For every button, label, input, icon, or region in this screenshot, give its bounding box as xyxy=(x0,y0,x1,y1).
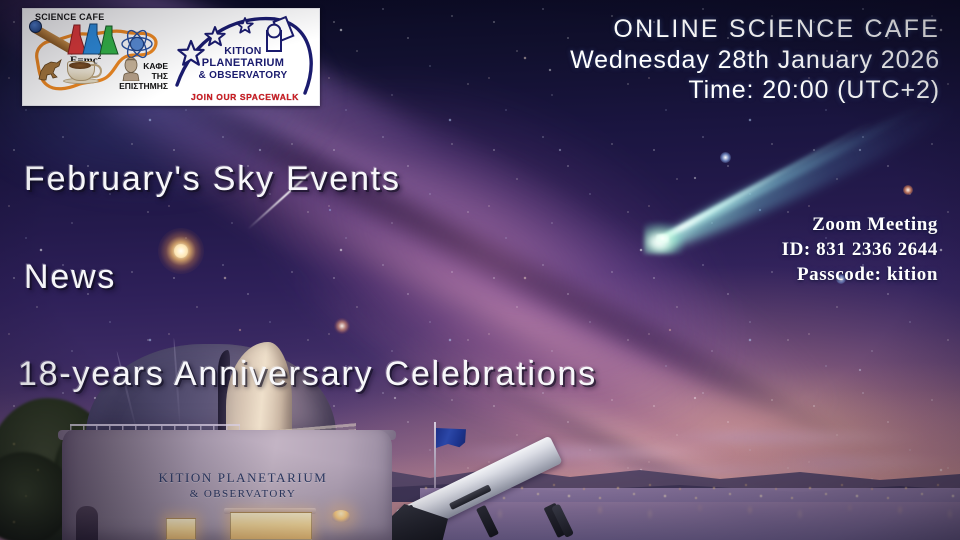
logo-bar[interactable]: SCIENCE CAFE E=mc2 xyxy=(22,8,320,106)
observatory-building: KITION PLANETARIUM & OBSERVATORY xyxy=(48,380,418,540)
kition-line-2: PLANETARIUM xyxy=(171,57,315,70)
telescope xyxy=(398,464,628,540)
greek-line-2: ΤΗΣ xyxy=(119,71,168,81)
building-doorway xyxy=(76,506,98,540)
greek-line-1: ΚΑΦΕ xyxy=(119,61,168,71)
lab-flasks-icon xyxy=(67,23,121,57)
science-cafe-title: SCIENCE CAFE xyxy=(35,12,104,22)
lit-window-main xyxy=(230,512,312,540)
telescope-tube-band xyxy=(476,505,499,538)
kition-line-3: & OBSERVATORY xyxy=(171,70,315,82)
coffee-liquid-icon xyxy=(69,62,91,69)
kition-line-1: KITION xyxy=(171,45,315,57)
kition-planetarium-logo[interactable]: KITION PLANETARIUM & OBSERVATORY JOIN OU… xyxy=(171,9,319,105)
poster-canvas: KITION PLANETARIUM & OBSERVATORY SCIENCE… xyxy=(0,0,960,540)
exterior-wall-lamp xyxy=(332,510,350,522)
atom-icon xyxy=(120,27,154,61)
science-cafe-logo[interactable]: SCIENCE CAFE E=mc2 xyxy=(23,9,171,105)
dinosaur-skeleton-icon xyxy=(35,57,65,83)
science-cafe-greek-text: ΚΑΦΕ ΤΗΣ ΕΠΙΣΤΗΜΗΣ xyxy=(119,61,168,91)
lit-window-left xyxy=(166,518,196,540)
logo-telescope-eyepiece-icon xyxy=(29,20,42,33)
kition-tagline: JOIN OUR SPACEWALK xyxy=(171,92,319,102)
kition-logo-text: KITION PLANETARIUM & OBSERVATORY xyxy=(171,45,315,82)
greek-line-3: ΕΠΙΣΤΗΜΗΣ xyxy=(119,81,168,91)
observatory-facade xyxy=(62,430,392,540)
